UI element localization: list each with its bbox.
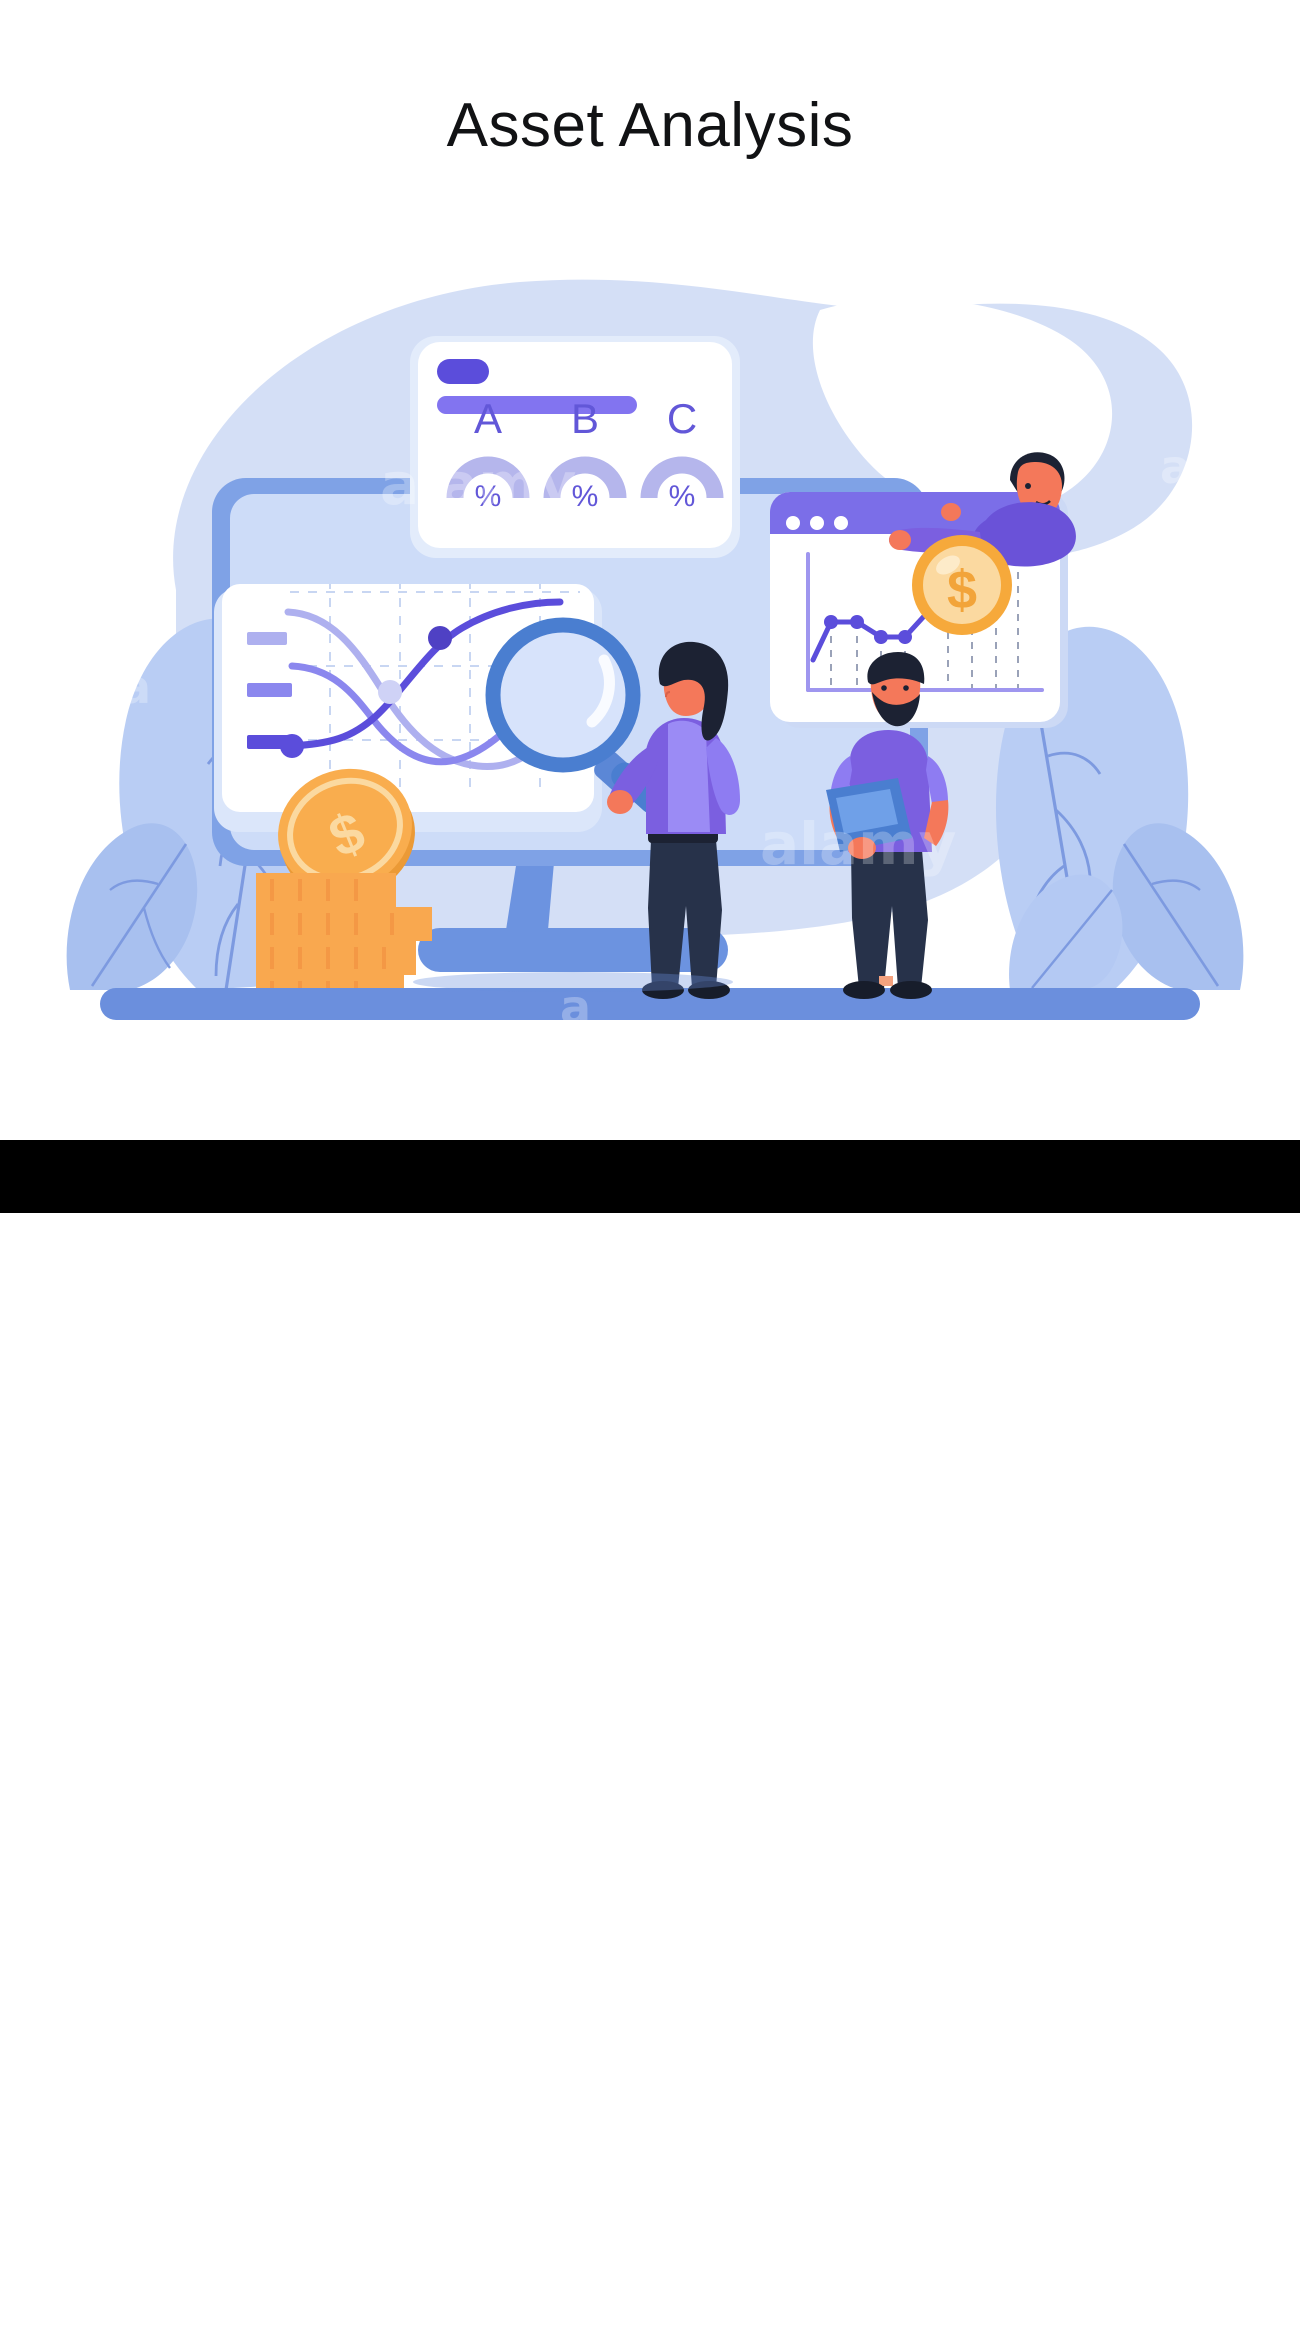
dollar-coin-large: $ <box>912 535 1012 635</box>
kpi-card[interactable]: A % B % C % <box>410 336 740 558</box>
coin-row <box>256 907 432 941</box>
coin-row <box>256 941 416 975</box>
gauge-unit-b: % <box>572 480 599 513</box>
gauge-label-c: C <box>667 395 697 442</box>
kpi-card-bar <box>437 396 637 414</box>
alamy-logo: alamy <box>47 2292 139 2336</box>
man2-ankle <box>879 976 893 986</box>
woman-hand <box>607 790 633 814</box>
footer-image-id: Image ID: 2WMR4T6 <box>1150 2291 1286 2306</box>
man2-hand <box>848 837 876 859</box>
gauge-unit-a: % <box>475 480 502 513</box>
illustration-canvas: A % B % C % <box>0 190 1300 1090</box>
illustration-page: Asset Analysis <box>0 0 1300 1213</box>
man2-shoe-left <box>843 981 885 999</box>
man3-hand-2 <box>941 503 961 521</box>
man3-hand <box>889 530 911 550</box>
browser-dot-maximize[interactable] <box>834 516 848 530</box>
legend-swatch-1 <box>247 632 287 645</box>
footer-watermark-bar: alamy Image ID: 2WMR4T6 www.alamy.com <box>0 1140 1300 1213</box>
man2-trousers <box>851 850 928 988</box>
chart-marker <box>428 626 452 650</box>
kpi-card-pill <box>437 359 489 384</box>
man3-eye <box>1025 483 1031 489</box>
page-title: Asset Analysis <box>0 92 1300 160</box>
footer-url[interactable]: www.alamy.com <box>1147 2319 1286 2337</box>
monitor-shadow <box>413 972 733 992</box>
legend-swatch-3 <box>247 735 292 749</box>
chart-marker <box>378 680 402 704</box>
man2-eye <box>903 685 909 691</box>
coin-dollar-symbol: $ <box>947 560 977 620</box>
man2-shoe-right <box>890 981 932 999</box>
gauge-label-b: B <box>571 395 599 442</box>
browser-dot-minimize[interactable] <box>810 516 824 530</box>
gauge-label-a: A <box>474 395 502 442</box>
gauge-unit-c: % <box>669 480 696 513</box>
legend-swatch-2 <box>247 683 292 697</box>
man2-eye <box>881 685 887 691</box>
browser-dot-close[interactable] <box>786 516 800 530</box>
